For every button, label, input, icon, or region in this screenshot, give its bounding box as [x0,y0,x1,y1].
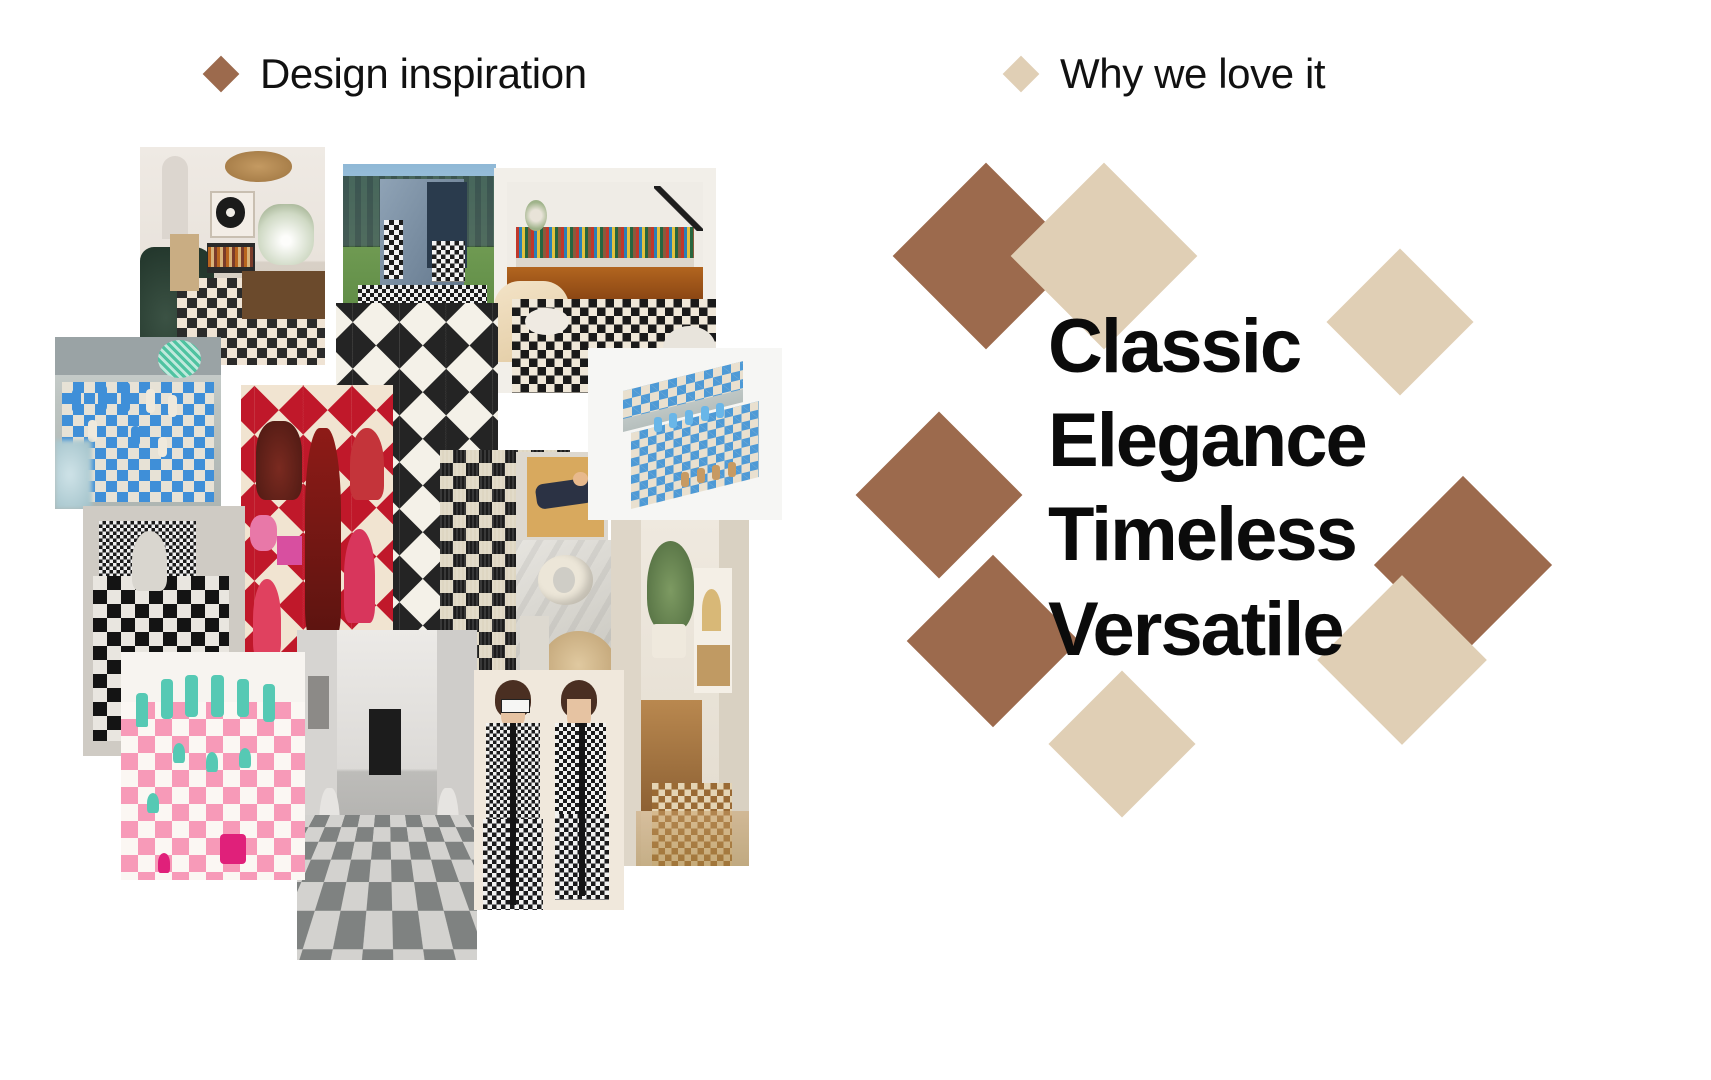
headline-text: Classic Elegance Timeless Versatile [1048,300,1478,677]
headline-line-1: Classic [1048,300,1478,394]
photo-gallery-hallway [297,630,477,960]
photo-living-room-checker-rug [140,147,325,365]
photo-checkered-facade-house [343,164,496,312]
headline-line-2: Elegance [1048,394,1478,488]
diamond-icon [1003,56,1040,93]
photo-mint-pink-chess [121,652,305,880]
section-heading-why-we-love-it: Why we love it [1008,50,1325,98]
headline-line-4: Versatile [1048,583,1478,677]
diamond-icon [203,56,240,93]
photo-blue-chess-board-flat [588,348,782,520]
photo-hallway-checker-runner [611,520,749,866]
headline-line-3: Timeless [1048,488,1478,582]
section-heading-label: Why we love it [1060,50,1325,98]
section-heading-label: Design inspiration [260,50,587,98]
headline-block: Classic Elegance Timeless Versatile [880,180,1580,800]
photo-mod-fashion-duo [474,670,624,910]
section-heading-design-inspiration: Design inspiration [208,50,587,98]
diamond-beige-bottom [1048,670,1195,817]
moodboard-collage [0,120,830,910]
diamond-brown-mid-left [856,412,1023,579]
photo-blue-chess-set [55,337,221,509]
